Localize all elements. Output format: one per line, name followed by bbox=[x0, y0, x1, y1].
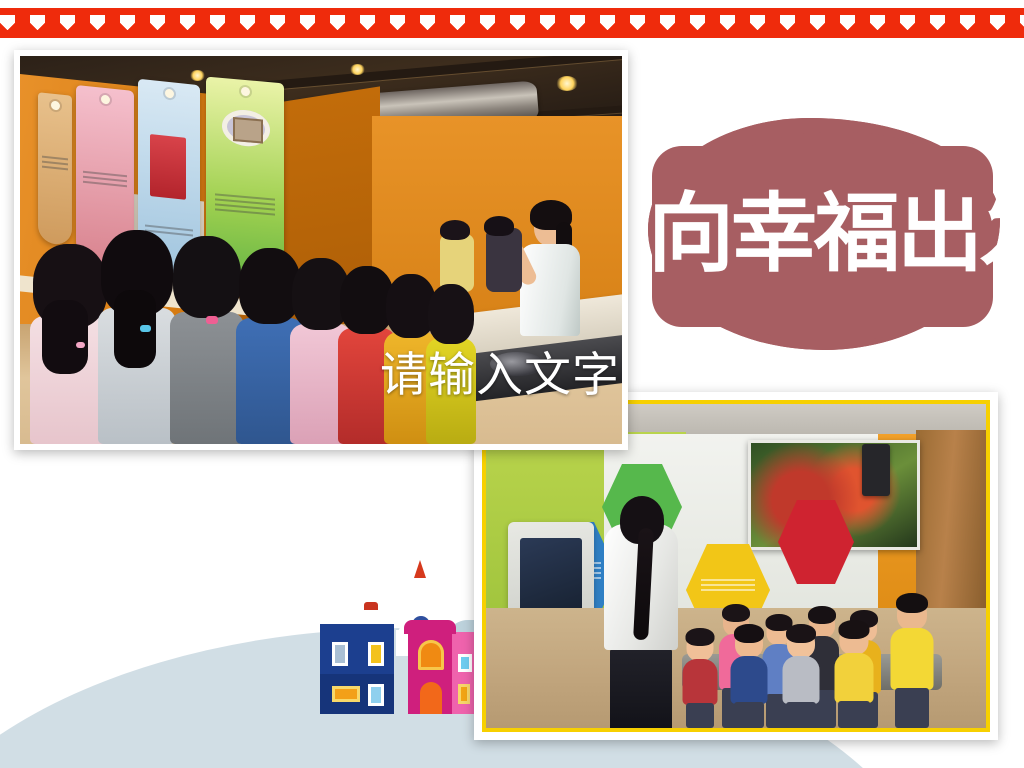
ceiling-lamp-icon bbox=[190, 70, 205, 81]
child-figure bbox=[834, 624, 874, 728]
visitor-hair bbox=[484, 216, 514, 236]
blue-building-window-1 bbox=[332, 642, 348, 666]
blue-building-window-2 bbox=[368, 642, 384, 666]
hair-tie-icon bbox=[140, 325, 151, 332]
presenter-figure bbox=[520, 206, 580, 336]
red-bunting-banner bbox=[0, 8, 1024, 38]
hair-tie-icon bbox=[76, 342, 85, 348]
visitor-hair bbox=[440, 220, 470, 240]
child-figure bbox=[890, 598, 934, 728]
child-figure bbox=[96, 230, 178, 444]
visitor-figure bbox=[486, 228, 522, 292]
lecture-room-scene bbox=[486, 404, 986, 728]
teacher-lower-body bbox=[610, 646, 672, 728]
slide-canvas: 请输入文字 向幸福出发 bbox=[0, 0, 1024, 768]
magenta-building-window bbox=[418, 640, 444, 670]
display-board-1 bbox=[38, 92, 72, 246]
title-text: 向幸福出发 bbox=[648, 191, 1000, 277]
child-figure bbox=[782, 628, 820, 728]
title-word-art: 向幸福出发 bbox=[648, 118, 1000, 350]
ceiling-lamp-icon bbox=[350, 64, 365, 75]
placeholder-text-overlay[interactable]: 请输入文字 bbox=[380, 352, 620, 399]
pink-building-window-orange bbox=[458, 684, 470, 704]
blue-building-window-3 bbox=[332, 686, 360, 702]
spire-tip-icon bbox=[414, 560, 426, 578]
photo-image-lecture bbox=[486, 404, 986, 728]
child-figure bbox=[682, 632, 718, 728]
pink-building-window-blue bbox=[458, 654, 472, 672]
child-figure bbox=[730, 628, 768, 728]
ceiling-lamp-icon bbox=[556, 76, 578, 91]
magenta-building-door bbox=[420, 682, 442, 714]
speaker-icon bbox=[862, 444, 890, 496]
hex-board-text-lines bbox=[701, 579, 755, 594]
blue-building-window-4 bbox=[368, 684, 384, 706]
hair-tie-icon bbox=[206, 316, 218, 324]
